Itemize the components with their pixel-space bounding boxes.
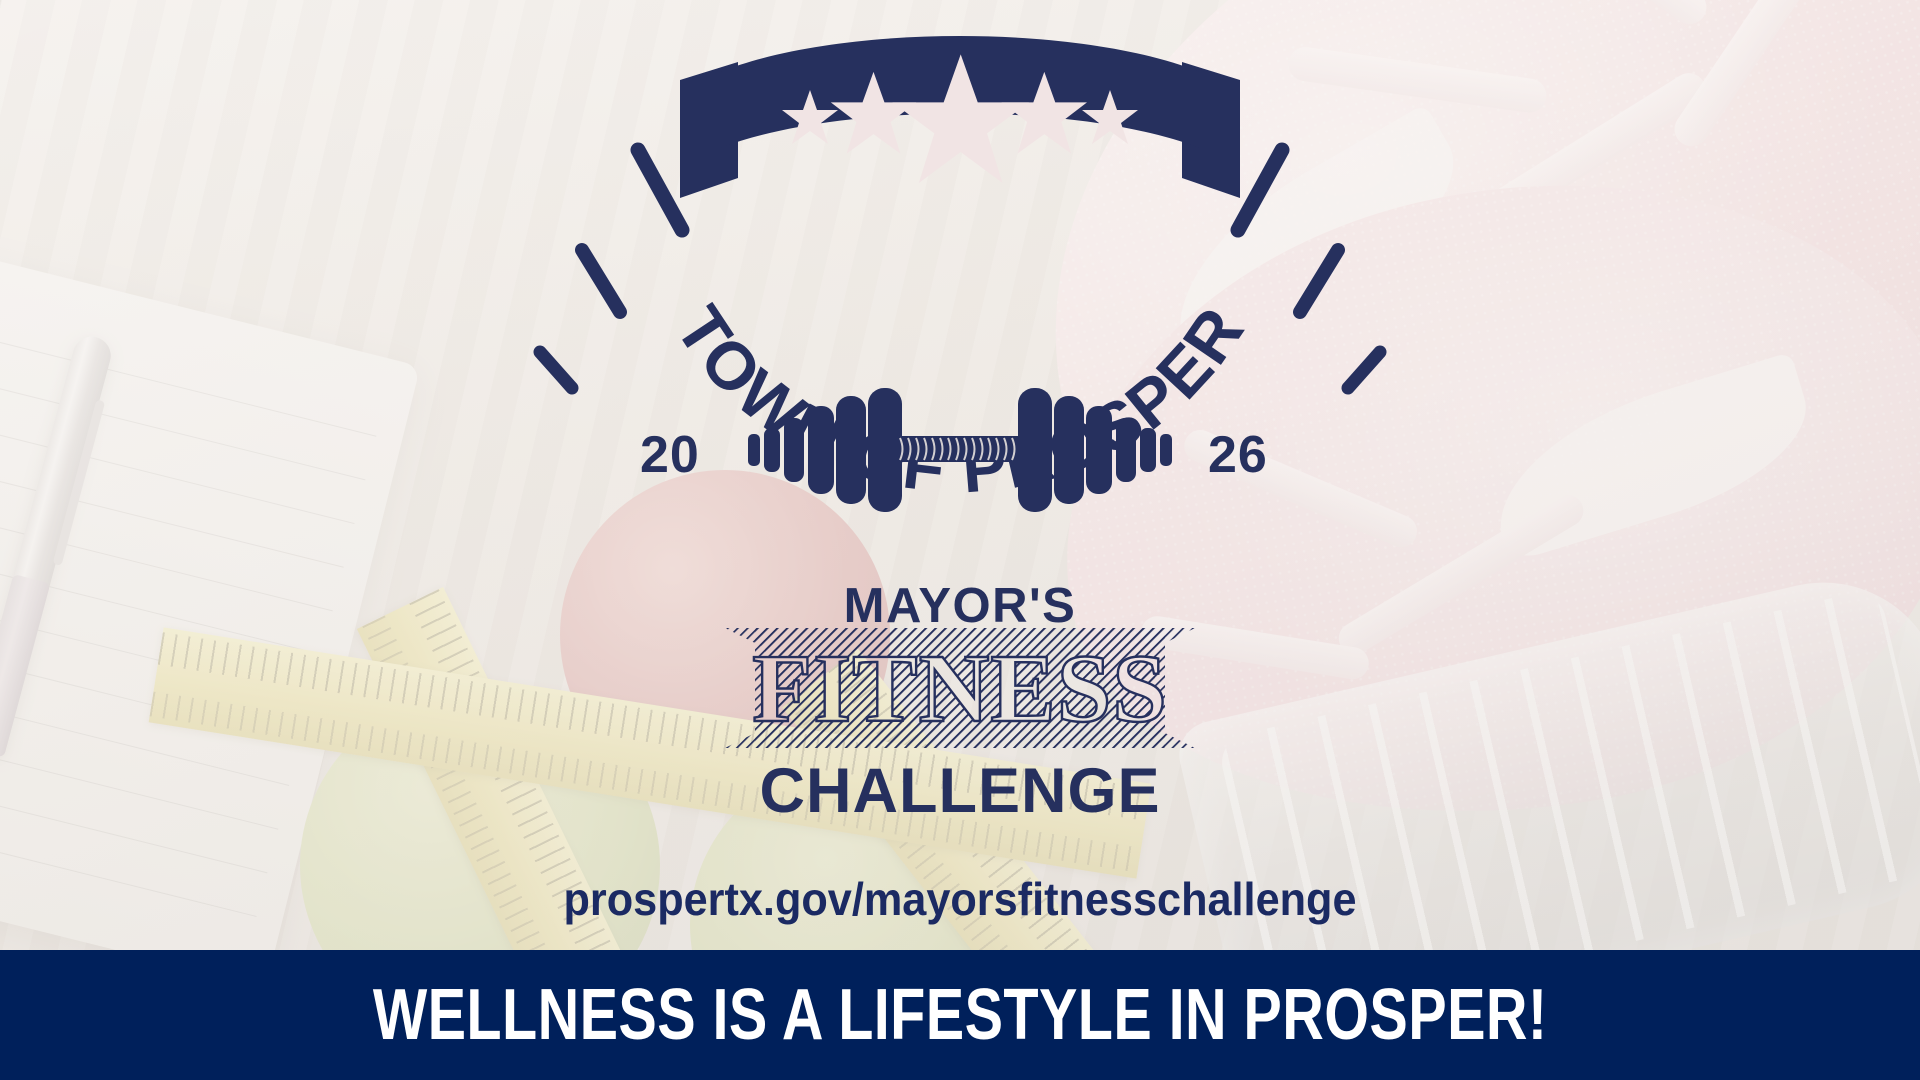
poster: TOWN OF PROSPER (0, 0, 1920, 1080)
year-left: 20 (640, 425, 700, 485)
bottom-banner: WELLNESS IS A LIFESTYLE IN PROSPER! (0, 950, 1920, 1080)
mayors-fitness-challenge-logo: TOWN OF PROSPER (0, 0, 1920, 940)
dumbbell-icon (660, 350, 1260, 550)
website-url[interactable]: prospertx.gov/mayorsfitnesschallenge (58, 872, 1863, 926)
logo-title-challenge: CHALLENGE (0, 755, 1920, 827)
fitness-outline-text: FITNESS (752, 635, 1168, 743)
bottom-banner-text: WELLNESS IS A LIFESTYLE IN PROSPER! (373, 974, 1548, 1056)
fitness-ribbon: FITNESS FITNESS (725, 620, 1195, 755)
year-right: 26 (1208, 425, 1268, 485)
